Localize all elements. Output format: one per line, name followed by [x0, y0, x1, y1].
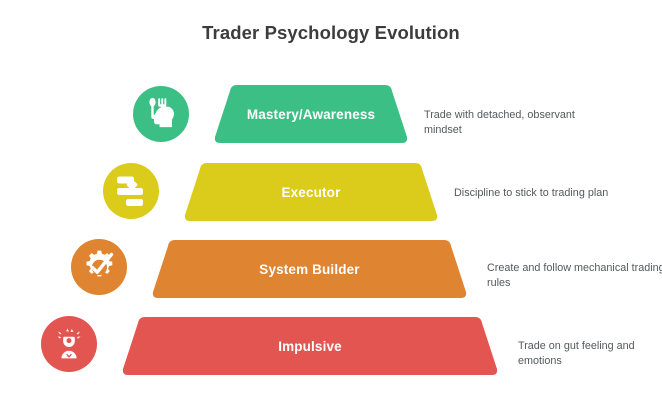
pyramid-band-executor[interactable]: Executor — [178, 163, 444, 221]
pyramid-band-system-builder[interactable]: System Builder — [146, 240, 473, 298]
task-chart-icon — [103, 163, 159, 219]
head-mindfulness-icon — [133, 86, 189, 142]
pyramid-level-description: Discipline to stick to trading plan — [454, 186, 629, 201]
gear-check-icon — [71, 239, 127, 295]
pyramid-band-mastery-awareness[interactable]: Mastery/Awareness — [208, 85, 414, 143]
pyramid-chart: Mastery/Awareness Trade with detached, o… — [0, 0, 662, 404]
stressed-person-icon — [41, 316, 97, 372]
pyramid-band-impulsive[interactable]: Impulsive — [116, 317, 504, 375]
pyramid-level-description: Trade with detached, observant mindset — [424, 108, 589, 139]
pyramid-level-description: Create and follow mechanical trading rul… — [487, 261, 662, 292]
pyramid-level-description: Trade on gut feeling and emotions — [518, 339, 662, 370]
